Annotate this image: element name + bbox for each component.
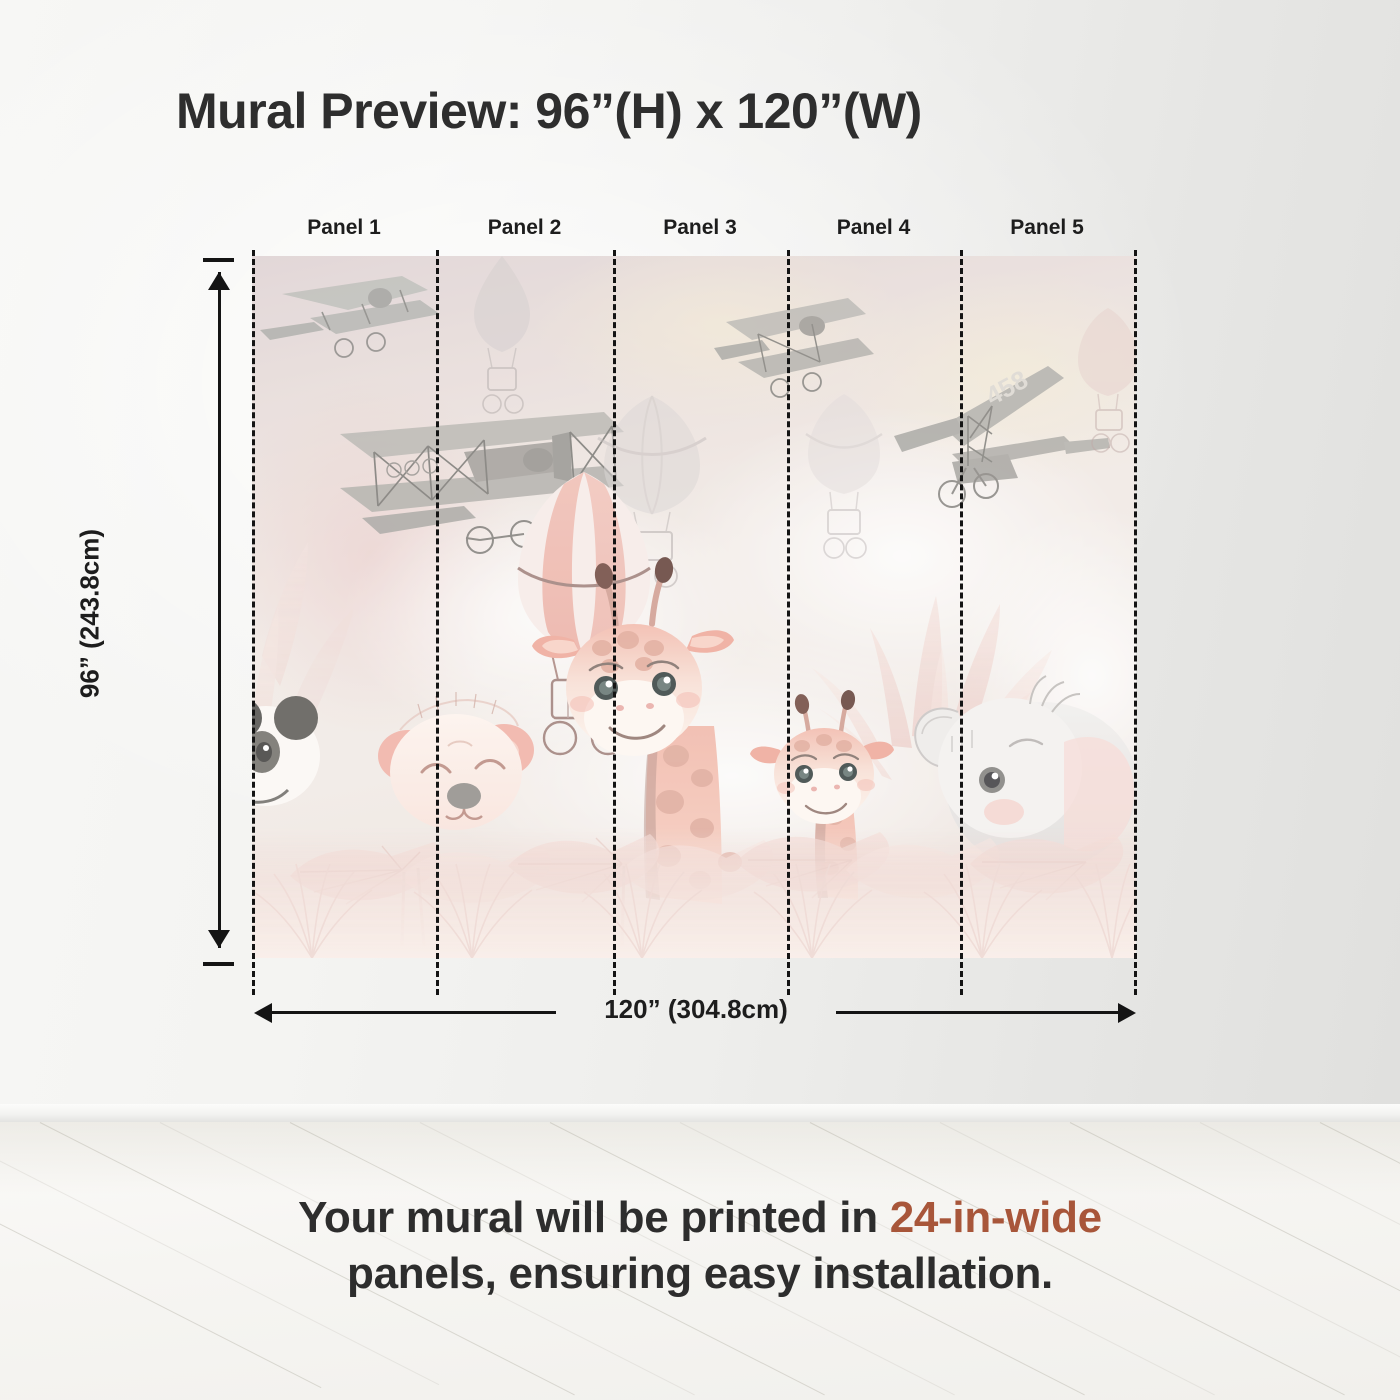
caption-line1-prefix: Your mural will be printed in [298,1193,890,1242]
caption-line2: panels, ensuring easy installation. [347,1249,1053,1298]
height-tick-top [203,258,234,262]
page-title: Mural Preview: 96”(H) x 120”(W) [176,82,922,140]
panel-label-1: Panel 1 [252,216,436,240]
mural-preview-page: Mural Preview: 96”(H) x 120”(W) [0,0,1400,1400]
baseboard [0,1104,1400,1122]
height-arrow-down [208,930,230,948]
panel-divider-3 [787,250,790,995]
caption-highlight: 24-in-wide [890,1193,1102,1242]
height-dimension-label: 96” (243.8cm) [75,464,106,764]
width-arrow-line-left [270,1011,556,1014]
panel-divider-2 [613,250,616,995]
panel-label-4: Panel 4 [787,216,960,240]
mural-illustration: 458 [252,256,1136,958]
panel-divider-1 [436,250,439,995]
panel-divider-4 [960,250,963,995]
panel-label-2: Panel 2 [436,216,613,240]
panel-divider-5 [1134,250,1137,995]
panel-label-3: Panel 3 [613,216,787,240]
height-arrow-line [218,272,221,948]
width-arrow-right [1118,1003,1136,1023]
mural-artwork[interactable]: 458 [252,256,1136,958]
height-tick-bottom [203,962,234,966]
installation-caption: Your mural will be printed in 24-in-wide… [0,1190,1400,1302]
width-dimension-label: 120” (304.8cm) [556,994,836,1025]
panel-label-5: Panel 5 [960,216,1134,240]
panel-divider-0 [252,250,255,995]
width-arrow-line-right [836,1011,1118,1014]
